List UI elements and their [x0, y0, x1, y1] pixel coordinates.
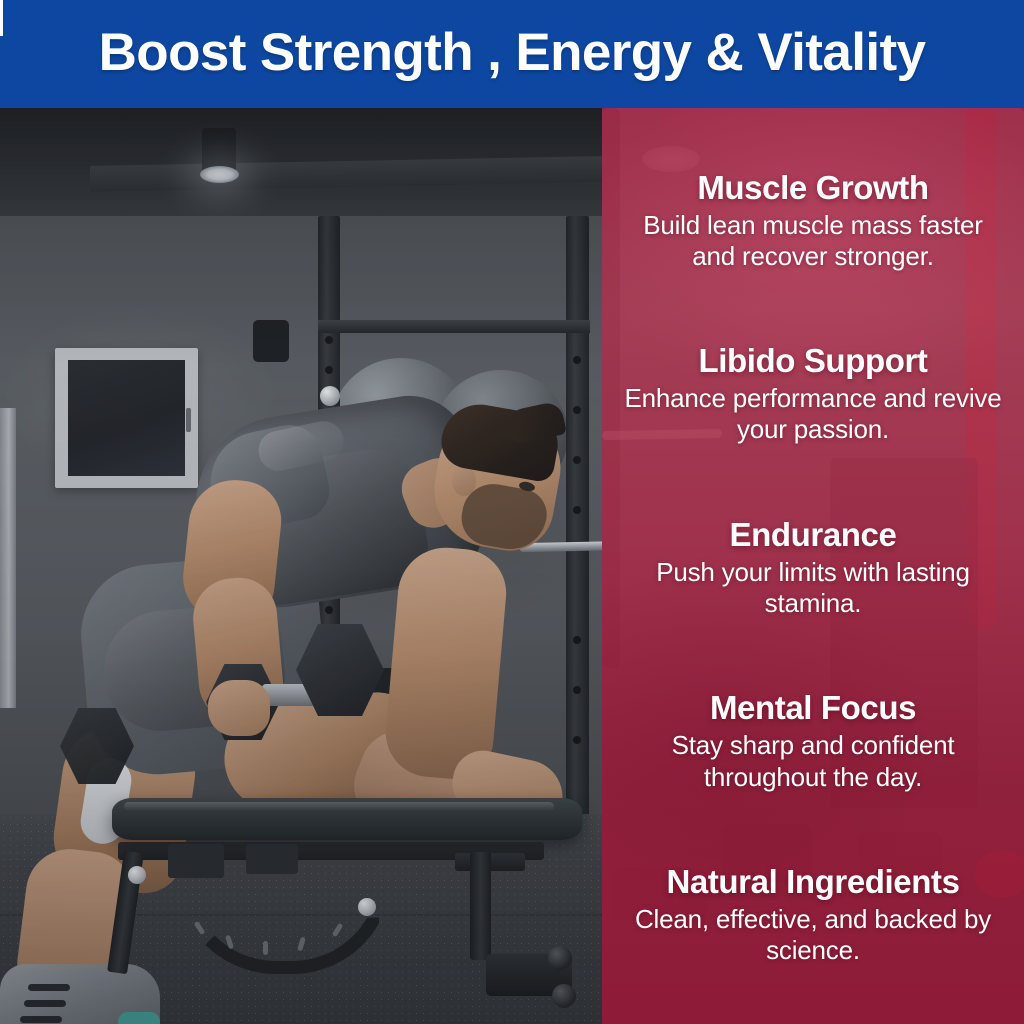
- benefit-item-mental-focus: Mental Focus Stay sharp and confident th…: [614, 690, 1012, 792]
- benefit-item-natural-ingredients: Natural Ingredients Clean, effective, an…: [614, 864, 1012, 966]
- benefit-title: Endurance: [614, 517, 1012, 554]
- benefit-item-libido-support: Libido Support Enhance performance and r…: [614, 343, 1012, 445]
- benefit-list: Muscle Growth Build lean muscle mass fas…: [602, 108, 1024, 1024]
- benefits-panel: Muscle Growth Build lean muscle mass fas…: [602, 108, 1024, 1024]
- benefit-title: Muscle Growth: [614, 170, 1012, 207]
- benefit-title: Libido Support: [614, 343, 1012, 380]
- bench-pad-highlight: [124, 802, 554, 811]
- athlete-supporting-arm: [382, 544, 510, 783]
- bench-wheel: [548, 946, 572, 970]
- benefit-item-endurance: Endurance Push your limits with lasting …: [614, 517, 1012, 619]
- supplement-ad-card: Boost Strength , Energy & Vitality: [0, 0, 1024, 1024]
- benefit-description: Enhance performance and revive your pass…: [614, 383, 1012, 445]
- corner-notch-artifact: [0, 0, 3, 36]
- athlete-shoe-accent: [118, 1012, 160, 1024]
- athlete-gripping-fist: [208, 680, 270, 736]
- bench-wheel: [552, 984, 576, 1008]
- bench-adjust-knob: [128, 866, 146, 884]
- benefit-description: Push your limits with lasting stamina.: [614, 557, 1012, 619]
- benefit-description: Build lean muscle mass faster and recove…: [614, 210, 1012, 272]
- benefit-item-muscle-growth: Muscle Growth Build lean muscle mass fas…: [614, 170, 1012, 272]
- benefit-title: Natural Ingredients: [614, 864, 1012, 901]
- bench-adjust-knob: [358, 898, 376, 916]
- page-title: Boost Strength , Energy & Vitality: [99, 26, 926, 82]
- header-banner: Boost Strength , Energy & Vitality: [0, 0, 1024, 108]
- benefit-description: Clean, effective, and backed by science.: [614, 904, 1012, 966]
- benefit-title: Mental Focus: [614, 690, 1012, 727]
- benefit-description: Stay sharp and confident throughout the …: [614, 730, 1012, 792]
- athlete-ear: [452, 466, 476, 496]
- bench-leg-right: [470, 852, 491, 960]
